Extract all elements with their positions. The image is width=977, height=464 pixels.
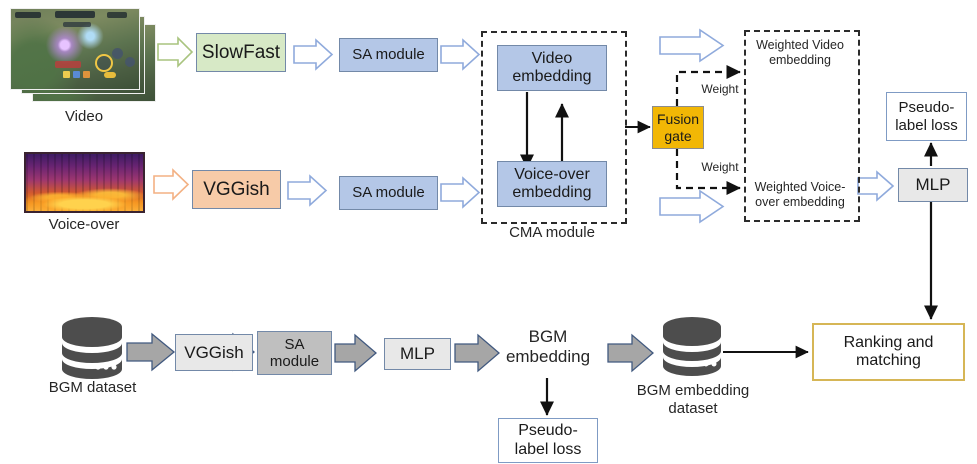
vggish-box[interactable]: VGGish [192,170,281,209]
bgm-embedding-dataset-db-icon [660,315,724,381]
mlp-top-label: MLP [916,175,951,195]
bgm-mlp-label: MLP [400,344,435,364]
weight-label-top: Weight [690,82,750,96]
video-caption: Video [18,108,150,126]
pseudo-label-loss-top-label: Pseudo- label loss [895,99,958,134]
video-embedding-box[interactable]: Video embedding [497,45,607,91]
hollow-arrow-slowfast-to-sa [294,40,332,69]
sa-module-voice-label: SA module [352,184,425,201]
voiceover-embedding-box[interactable]: Voice-over embedding [497,161,607,207]
bgm-mlp-box[interactable]: MLP [384,338,451,370]
hollow-arrow-sa-to-cma-voice [441,178,479,207]
hollow-arrow-vggish-to-sa [288,176,326,205]
hollow-arrow-video-emb-to-weighted [660,30,723,61]
voiceover-caption: Voice-over [14,216,154,234]
ranking-and-matching-label: Ranking and matching [844,334,934,371]
pseudo-label-loss-top-box[interactable]: Pseudo- label loss [886,92,967,141]
hollow-arrow-voice-to-vggish [154,170,188,199]
block-arrow-sa-to-mlp [335,335,376,371]
sa-module-video-label: SA module [352,46,425,63]
bgm-embedding-label: BGM embedding [487,327,609,368]
bgm-sa-module-label: SA module [270,336,319,371]
pseudo-label-loss-bottom-label: Pseudo- label loss [515,422,582,459]
weighted-video-embedding-label: Weighted Video embedding [748,38,852,68]
bgm-embedding-dataset-caption: BGM embedding dataset [612,382,774,418]
voiceover-spectrogram-thumbnail [24,152,145,213]
block-arrow-bgmdb-to-vggish [127,334,174,370]
video-embedding-label: Video embedding [512,50,591,87]
diagram-canvas: Video Voice-over SlowFast VGGish SA modu… [0,0,977,464]
sa-module-video-box[interactable]: SA module [339,38,438,72]
hollow-arrow-sa-to-cma-video [441,40,479,69]
bgm-vggish-label: VGGish [184,343,244,363]
fusion-gate-label: Fusion gate [657,111,699,143]
cma-module-caption: CMA module [481,224,623,242]
hollow-arrow-weighted-to-mlp [858,172,893,200]
slowfast-label: SlowFast [202,42,280,64]
pseudo-label-loss-bottom-box[interactable]: Pseudo- label loss [498,418,598,463]
block-arrow-bgm-embedding-to-db [608,335,653,371]
sa-module-voice-box[interactable]: SA module [339,176,438,210]
voiceover-embedding-label: Voice-over embedding [512,166,591,203]
ranking-and-matching-box[interactable]: Ranking and matching [812,323,965,381]
hollow-arrow-voice-emb-to-weighted [660,191,723,222]
bgm-sa-module-box[interactable]: SA module [257,331,332,375]
database-cylinder-icon [660,315,724,381]
bgm-vggish-box[interactable]: VGGish [175,334,253,371]
vggish-label: VGGish [203,179,270,201]
database-cylinder-icon [58,315,126,383]
weight-label-bottom: Weight [690,160,750,174]
weighted-voiceover-embedding-label: Weighted Voice- over embedding [748,180,852,210]
bgm-dataset-db-icon [58,315,126,383]
bgm-dataset-caption: BGM dataset [10,379,175,397]
mlp-top-box[interactable]: MLP [898,168,968,202]
fusion-gate-box[interactable]: Fusion gate [652,106,704,149]
video-thumbnail [10,8,158,108]
slowfast-box[interactable]: SlowFast [196,33,286,72]
hollow-arrow-video-to-slowfast [158,38,192,66]
